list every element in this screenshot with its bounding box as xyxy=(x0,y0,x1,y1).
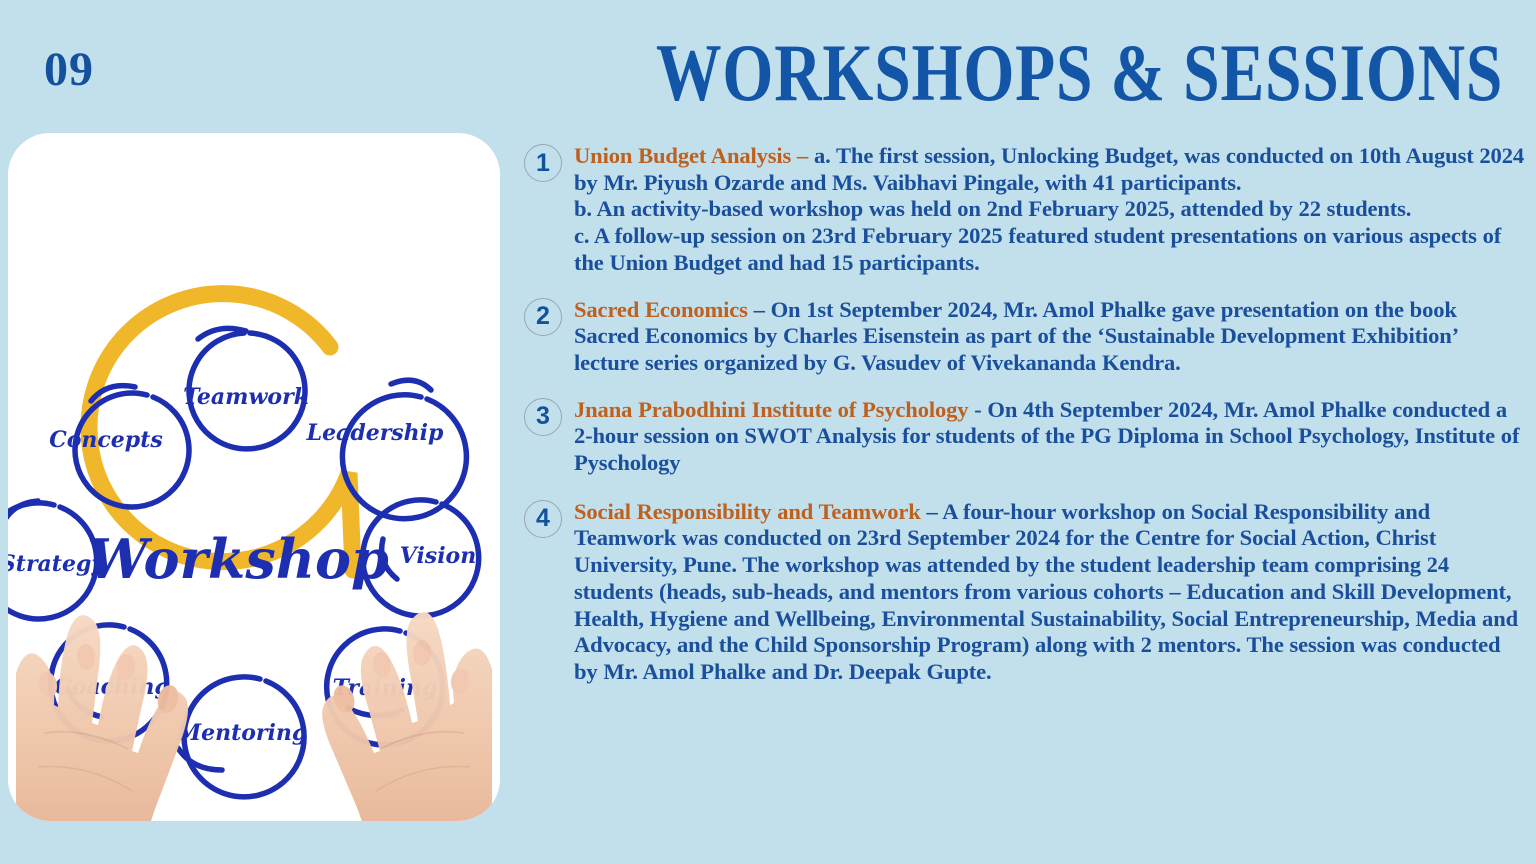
item-lead: Jnana Prabodhini Institute of Psychology xyxy=(574,397,968,422)
diagram-node-concepts: Concepts xyxy=(49,427,163,453)
diagram-node-mentoring: Mentoring xyxy=(176,720,308,746)
item-number-badge: 3 xyxy=(524,398,562,436)
diagram-center-label: Workshop xyxy=(87,527,389,591)
item-text: Jnana Prabodhini Institute of Psychology… xyxy=(574,397,1524,477)
workshop-diagram-card: .nodeCircle { fill:none; stroke:#1d2fb0;… xyxy=(8,133,500,821)
sessions-list: 1 Union Budget Analysis – a. The first s… xyxy=(524,143,1524,833)
diagram-node-vision: Vision xyxy=(400,543,476,569)
item-text: Social Responsibility and Teamwork – A f… xyxy=(574,499,1524,686)
slide-number: 09 xyxy=(44,46,94,94)
diagram-node-teamwork: Teamwork xyxy=(183,384,309,410)
item-number-badge: 2 xyxy=(524,298,562,336)
item-lead: Sacred Economics xyxy=(574,297,748,322)
list-item: 3 Jnana Prabodhini Institute of Psycholo… xyxy=(524,397,1524,477)
list-item: 2 Sacred Economics – On 1st September 20… xyxy=(524,297,1524,377)
diagram-node-leadership: Leadership xyxy=(306,420,444,446)
item-text: Sacred Economics – On 1st September 2024… xyxy=(574,297,1524,377)
item-body: – A four-hour workshop on Social Respons… xyxy=(574,499,1518,684)
item-lead: Union Budget Analysis – xyxy=(574,143,808,168)
item-number-badge: 1 xyxy=(524,144,562,182)
page-title: WORKSHOPS & SESSIONS xyxy=(656,34,1424,112)
list-item: 4 Social Responsibility and Teamwork – A… xyxy=(524,499,1524,686)
workshop-diagram-illustration: .nodeCircle { fill:none; stroke:#1d2fb0;… xyxy=(8,133,500,821)
item-lead: Social Responsibility and Teamwork xyxy=(574,499,921,524)
item-text: Union Budget Analysis – a. The first ses… xyxy=(574,143,1524,277)
item-number-badge: 4 xyxy=(524,500,562,538)
list-item: 1 Union Budget Analysis – a. The first s… xyxy=(524,143,1524,277)
